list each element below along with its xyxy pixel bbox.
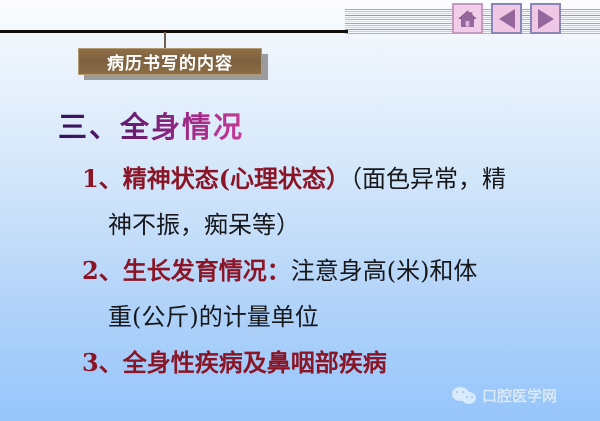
watermark-label: 口腔医学网 — [482, 385, 557, 406]
text-segment: 神不振，痴呆等） — [108, 211, 300, 239]
previous-slide-button[interactable] — [491, 3, 522, 34]
title-chip-label: 病历书写的内容 — [107, 49, 233, 74]
item-1-line-2: 神不振，痴呆等） — [82, 202, 582, 248]
title-chip-box: 病历书写的内容 — [78, 48, 262, 75]
item-2-line-2: 重(公斤)的计量单位 — [82, 294, 582, 340]
page-title: 三、全身情况 — [58, 104, 244, 146]
text-segment: 1、精神状态(心理状态） — [82, 164, 350, 193]
triangle-left-icon — [499, 9, 515, 29]
watermark: 口腔医学网 — [452, 385, 557, 406]
item-1-line-1: 1、精神状态(心理状态）（面色异常，精 — [82, 156, 582, 202]
item-3-line-1: 3、全身性疾病及鼻咽部疾病 — [82, 340, 582, 386]
wechat-icon — [452, 386, 478, 406]
content-list: 1、精神状态(心理状态）（面色异常，精神不振，痴呆等）2、生长发育情况：注意身高… — [82, 156, 582, 386]
text-segment: 3、全身性疾病及鼻咽部疾病 — [82, 348, 387, 377]
navigation-button-group — [452, 3, 561, 34]
triangle-right-icon — [538, 9, 554, 29]
home-icon — [458, 10, 477, 28]
text-segment: 重(公斤)的计量单位 — [108, 303, 319, 331]
text-segment: 注意身高(米)和体 — [291, 257, 478, 285]
top-horizontal-rule — [0, 30, 348, 33]
item-2-line-1: 2、生长发育情况：注意身高(米)和体 — [82, 248, 582, 294]
text-segment: 2、生长发育情况： — [82, 256, 291, 285]
text-segment: （面色异常，精 — [350, 165, 506, 193]
home-button[interactable] — [452, 3, 483, 34]
slide-title-chip: 病历书写的内容 — [78, 48, 268, 80]
next-slide-button[interactable] — [530, 3, 561, 34]
slide-canvas: 病历书写的内容 三、全身情况 1、精神状态(心理状态）（面色异常，精神不振，痴呆… — [0, 0, 600, 421]
